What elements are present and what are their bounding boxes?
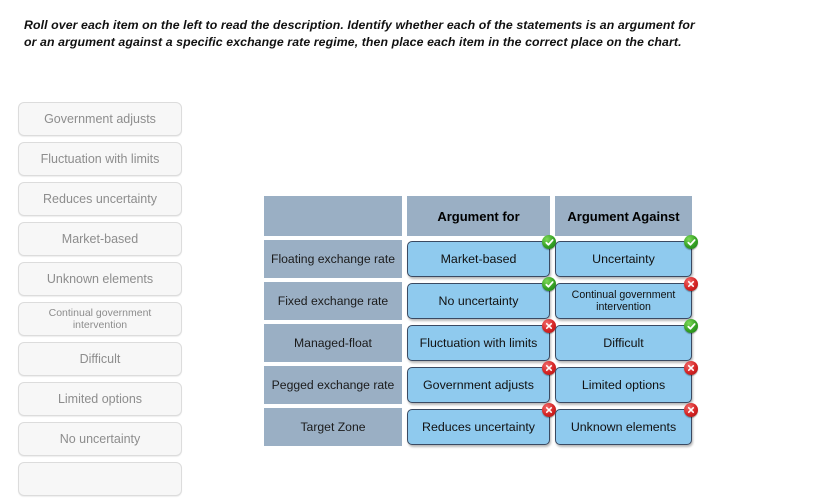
tile-label: No uncertainty xyxy=(439,295,519,308)
bank-item-3[interactable]: Market-based xyxy=(18,222,182,256)
tile-label: Reduces uncertainty xyxy=(422,421,535,434)
tile-label: Market-based xyxy=(441,253,517,266)
chart-header-blank xyxy=(264,196,402,236)
drop-slot-against[interactable]: Uncertainty xyxy=(555,240,692,278)
placed-tile[interactable]: Uncertainty xyxy=(555,241,692,277)
tile-label: Government adjusts xyxy=(423,379,534,392)
x-circle-icon xyxy=(542,361,556,375)
chart-row: Target Zone Reduces uncertainty Unknown … xyxy=(264,408,692,446)
drop-slot-for[interactable]: Market-based xyxy=(407,240,550,278)
placed-tile[interactable]: Fluctuation with limits xyxy=(407,325,550,361)
check-circle-icon xyxy=(542,277,556,291)
x-circle-icon xyxy=(542,319,556,333)
tile-label: Uncertainty xyxy=(592,253,655,266)
regime-label: Managed-float xyxy=(264,324,402,362)
x-circle-icon xyxy=(684,277,698,291)
tile-label: Difficult xyxy=(603,337,643,350)
bank-item-label: Market-based xyxy=(62,232,138,246)
drop-slot-against[interactable]: Continual government intervention xyxy=(555,282,692,320)
chart-row: Floating exchange rate Market-based Unce… xyxy=(264,240,692,278)
bank-item-label: Limited options xyxy=(58,392,142,406)
chart-header-row: Argument for Argument Against xyxy=(264,196,692,236)
chart-header-argument-for: Argument for xyxy=(407,196,550,236)
chart-row: Pegged exchange rate Government adjusts … xyxy=(264,366,692,404)
bank-item-0[interactable]: Government adjusts xyxy=(18,102,182,136)
placed-tile[interactable]: Market-based xyxy=(407,241,550,277)
placed-tile[interactable]: Reduces uncertainty xyxy=(407,409,550,445)
bank-item-label: Difficult xyxy=(80,352,121,366)
item-bank: Government adjusts Fluctuation with limi… xyxy=(18,102,184,502)
bank-item-label: No uncertainty xyxy=(60,432,141,446)
regime-label: Pegged exchange rate xyxy=(264,366,402,404)
placed-tile[interactable]: Limited options xyxy=(555,367,692,403)
bank-item-5[interactable]: Continual government intervention xyxy=(18,302,182,336)
tile-label: Fluctuation with limits xyxy=(420,337,538,350)
bank-item-4[interactable]: Unknown elements xyxy=(18,262,182,296)
bank-item-8[interactable]: No uncertainty xyxy=(18,422,182,456)
placed-tile[interactable]: No uncertainty xyxy=(407,283,550,319)
check-circle-icon xyxy=(684,319,698,333)
regime-label: Floating exchange rate xyxy=(264,240,402,278)
drop-slot-for[interactable]: Government adjusts xyxy=(407,366,550,404)
bank-item-label: Unknown elements xyxy=(47,272,153,286)
instructions-line-2: or an argument against a specific exchan… xyxy=(24,34,754,51)
drop-slot-for[interactable]: No uncertainty xyxy=(407,282,550,320)
bank-item-label: Government adjusts xyxy=(44,112,156,126)
regime-label: Fixed exchange rate xyxy=(264,282,402,320)
drop-slot-for[interactable]: Fluctuation with limits xyxy=(407,324,550,362)
bank-item-9[interactable] xyxy=(18,462,182,496)
regime-label: Target Zone xyxy=(264,408,402,446)
x-circle-icon xyxy=(542,403,556,417)
classification-chart: Argument for Argument Against Floating e… xyxy=(264,196,692,450)
bank-item-6[interactable]: Difficult xyxy=(18,342,182,376)
placed-tile[interactable]: Government adjusts xyxy=(407,367,550,403)
bank-item-label: Continual government intervention xyxy=(25,307,175,331)
bank-item-1[interactable]: Fluctuation with limits xyxy=(18,142,182,176)
bank-item-label: Reduces uncertainty xyxy=(43,192,157,206)
chart-header-argument-against: Argument Against xyxy=(555,196,692,236)
x-circle-icon xyxy=(684,361,698,375)
instructions-text: Roll over each item on the left to read … xyxy=(24,17,754,51)
chart-row: Fixed exchange rate No uncertainty Conti… xyxy=(264,282,692,320)
bank-item-7[interactable]: Limited options xyxy=(18,382,182,416)
bank-item-2[interactable]: Reduces uncertainty xyxy=(18,182,182,216)
drop-slot-against[interactable]: Unknown elements xyxy=(555,408,692,446)
tile-label: Unknown elements xyxy=(571,421,676,434)
placed-tile[interactable]: Difficult xyxy=(555,325,692,361)
bank-item-label: Fluctuation with limits xyxy=(41,152,160,166)
placed-tile[interactable]: Unknown elements xyxy=(555,409,692,445)
x-circle-icon xyxy=(684,403,698,417)
drop-slot-against[interactable]: Limited options xyxy=(555,366,692,404)
chart-row: Managed-float Fluctuation with limits Di… xyxy=(264,324,692,362)
tile-label: Limited options xyxy=(582,379,665,392)
drop-slot-for[interactable]: Reduces uncertainty xyxy=(407,408,550,446)
check-circle-icon xyxy=(542,235,556,249)
tile-label: Continual government intervention xyxy=(563,289,684,313)
placed-tile[interactable]: Continual government intervention xyxy=(555,283,692,319)
check-circle-icon xyxy=(684,235,698,249)
drop-slot-against[interactable]: Difficult xyxy=(555,324,692,362)
instructions-line-1: Roll over each item on the left to read … xyxy=(24,17,754,34)
